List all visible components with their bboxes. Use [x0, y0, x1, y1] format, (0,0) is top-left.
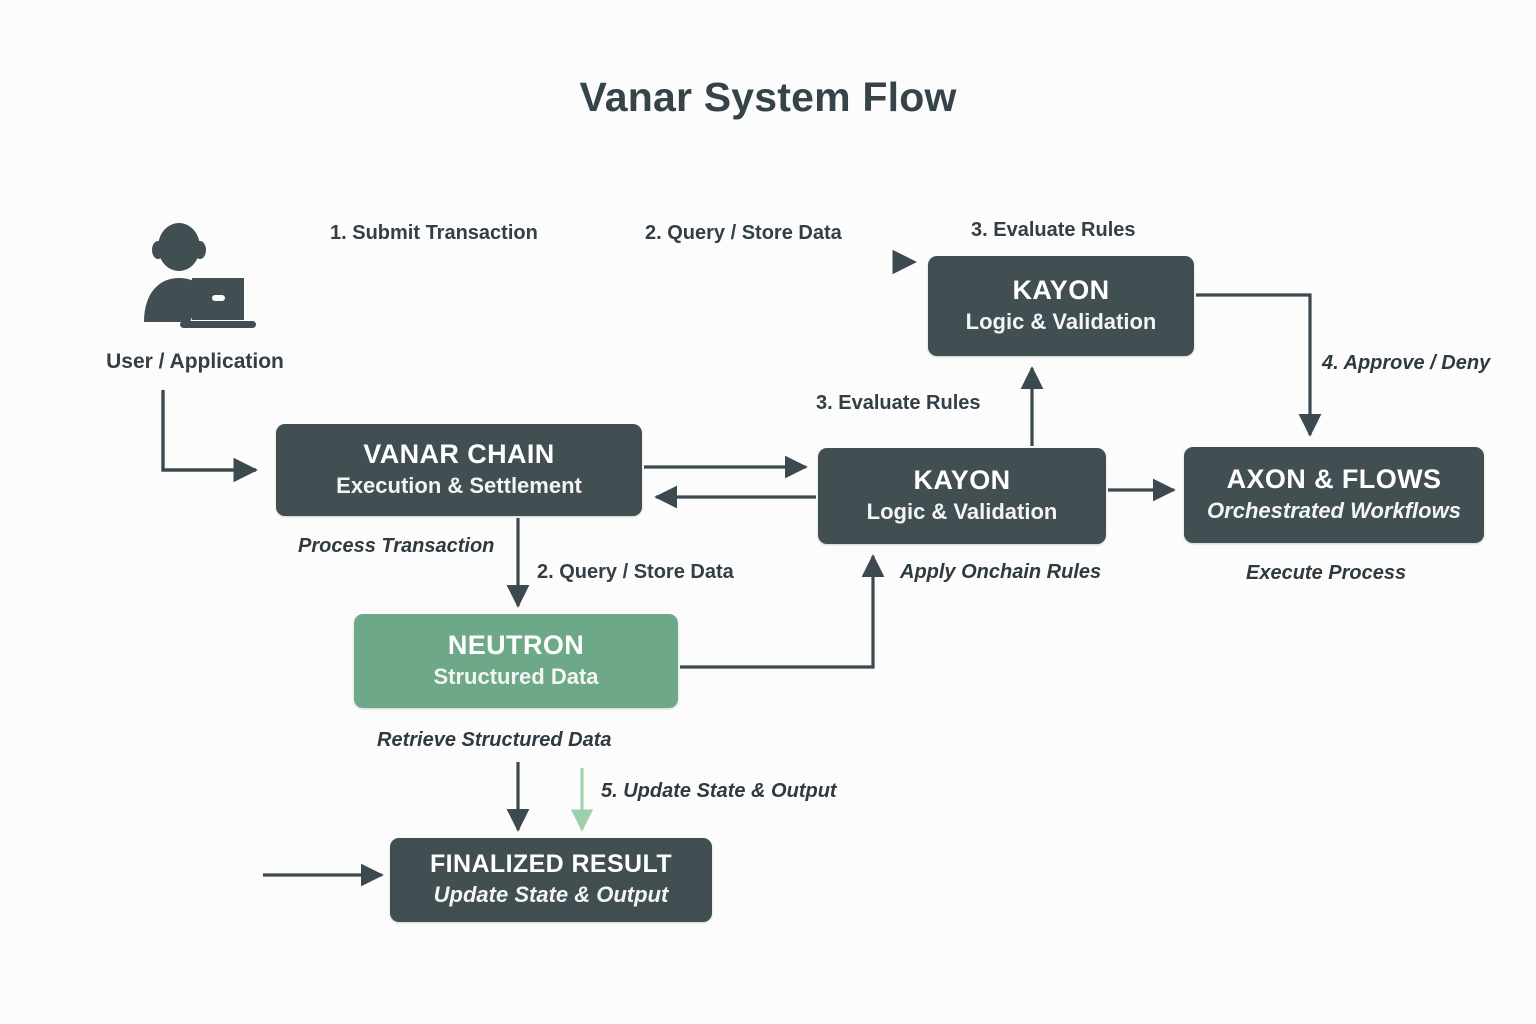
page-title: Vanar System Flow — [0, 74, 1536, 121]
label-evaluate-rules-top: 3. Evaluate Rules — [971, 219, 1136, 242]
node-vanar-chain[interactable]: VANAR CHAIN Execution & Settlement — [276, 424, 642, 516]
label-update-state-output: 5. Update State & Output — [601, 780, 837, 803]
node-subtitle: Logic & Validation — [867, 499, 1058, 525]
actor-label: User / Application — [88, 350, 302, 374]
node-title: VANAR CHAIN — [363, 440, 554, 468]
label-retrieve-structured: Retrieve Structured Data — [377, 729, 612, 752]
node-neutron[interactable]: NEUTRON Structured Data — [354, 614, 678, 708]
label-submit-transaction: 1. Submit Transaction — [330, 222, 538, 245]
node-subtitle: Logic & Validation — [966, 309, 1157, 335]
node-axon-flows[interactable]: AXON & FLOWS Orchestrated Workflows — [1184, 447, 1484, 543]
node-subtitle: Execution & Settlement — [336, 473, 582, 499]
node-subtitle: Structured Data — [433, 664, 598, 690]
node-subtitle: Orchestrated Workflows — [1207, 498, 1461, 524]
user-at-laptop-icon — [130, 222, 260, 337]
label-execute-process: Execute Process — [1246, 562, 1406, 585]
node-title: KAYON — [913, 466, 1010, 494]
node-title: KAYON — [1012, 276, 1109, 304]
label-evaluate-rules-mid: 3. Evaluate Rules — [816, 392, 981, 415]
node-finalized-result[interactable]: FINALIZED RESULT Update State & Output — [390, 838, 712, 922]
node-title: FINALIZED RESULT — [430, 851, 672, 877]
node-kayon-top[interactable]: KAYON Logic & Validation — [928, 256, 1194, 356]
label-query-store-top: 2. Query / Store Data — [645, 222, 842, 245]
node-title: NEUTRON — [448, 631, 584, 659]
node-subtitle: Update State & Output — [434, 882, 669, 908]
label-process-transaction: Process Transaction — [298, 535, 494, 558]
label-query-store-mid: 2. Query / Store Data — [537, 561, 734, 584]
label-approve-deny: 4. Approve / Deny — [1322, 352, 1490, 375]
edge-user-to-vanar — [163, 390, 256, 470]
node-kayon-mid[interactable]: KAYON Logic & Validation — [818, 448, 1106, 544]
edge-kayon-top-to-axon — [1196, 295, 1310, 435]
diagram-canvas: Vanar System Flow — [0, 0, 1536, 1024]
node-title: AXON & FLOWS — [1227, 465, 1442, 493]
label-apply-onchain-rules: Apply Onchain Rules — [900, 561, 1101, 584]
